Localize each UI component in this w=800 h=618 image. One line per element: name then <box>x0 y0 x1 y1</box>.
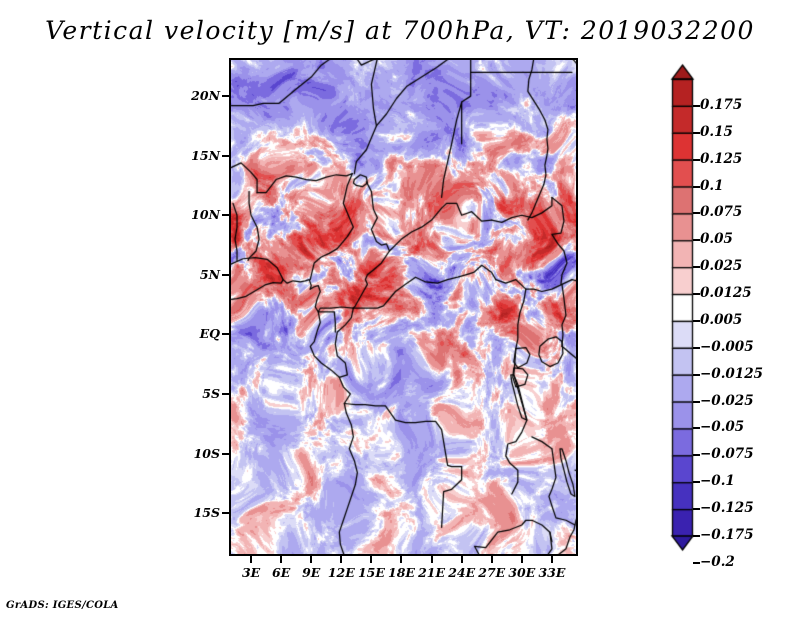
colorbar-tick-label: −0.025 <box>700 393 754 409</box>
y-axis-tick-mark <box>222 214 229 216</box>
colorbar-tick-label: 0.005 <box>700 312 742 328</box>
colorbar-tick-mark <box>693 454 700 456</box>
colorbar-tick-label: 0.15 <box>700 124 733 140</box>
colorbar-tick-label: 0.05 <box>700 231 733 247</box>
colorbar-tick-label: 0.125 <box>700 151 742 167</box>
y-axis-tick-label: 10S <box>194 446 220 461</box>
colorbar-tick-mark <box>693 266 700 268</box>
y-axis-tick-mark <box>222 274 229 276</box>
colorbar-tick-mark <box>693 427 700 429</box>
colorbar-tick-label: 0.0125 <box>700 285 752 301</box>
colorbar-tick-mark <box>693 535 700 537</box>
colorbar-tick-label: −0.2 <box>700 554 735 570</box>
grads-credit: GrADS: IGES/COLA <box>6 600 119 611</box>
x-axis-tick-mark <box>551 556 553 563</box>
colorbar-tick-label: 0.1 <box>700 178 724 194</box>
colorbar-tick-mark <box>693 132 700 134</box>
vertical-velocity-field <box>229 58 578 556</box>
y-axis-tick-label: 20N <box>191 88 220 103</box>
y-axis-tick-mark <box>222 453 229 455</box>
y-axis-tick-mark <box>222 512 229 514</box>
colorbar-tick-mark <box>693 159 700 161</box>
x-axis-tick-mark <box>521 556 523 563</box>
y-axis-tick-label: 15N <box>191 148 220 163</box>
colorbar-tick-label: −0.1 <box>700 473 735 489</box>
colorbar-tick-mark <box>693 481 700 483</box>
colorbar-tick-label: −0.005 <box>700 339 754 355</box>
colorbar-tick-mark <box>693 320 700 322</box>
y-axis-tick-label: EQ <box>200 326 220 341</box>
y-axis-tick-label: 5S <box>202 386 220 401</box>
x-axis-tick-mark <box>491 556 493 563</box>
x-axis-tick-mark <box>250 556 252 563</box>
colorbar-tick-mark <box>693 105 700 107</box>
colorbar-tick-label: 0.025 <box>700 258 742 274</box>
colorbar-tick-mark <box>693 374 700 376</box>
colorbar-tick-mark <box>693 401 700 403</box>
y-axis-tick-label: 15S <box>194 505 220 520</box>
y-axis-tick-label: 5N <box>200 267 220 282</box>
colorbar-tick-mark <box>693 508 700 510</box>
page-title: Vertical velocity [m/s] at 700hPa, VT: 2… <box>0 16 800 45</box>
colorbar-tick-mark <box>693 347 700 349</box>
colorbar-tick-label: 0.175 <box>700 97 742 113</box>
x-axis-tick-mark <box>310 556 312 563</box>
colorbar-tick-mark <box>693 562 700 564</box>
colorbar-tick-label: −0.0125 <box>700 366 763 382</box>
x-axis-tick-label: 33E <box>530 565 574 580</box>
x-axis-tick-mark <box>340 556 342 563</box>
y-axis-tick-label: 10N <box>191 207 220 222</box>
colorbar-tick-label: −0.075 <box>700 446 754 462</box>
x-axis-tick-mark <box>400 556 402 563</box>
colorbar-tick-mark <box>693 212 700 214</box>
x-axis-tick-mark <box>280 556 282 563</box>
colorbar-tick-label: −0.175 <box>700 527 754 543</box>
colorbar-tick-mark <box>693 186 700 188</box>
colorbar: 0.1750.150.1250.10.0750.050.0250.01250.0… <box>670 58 796 558</box>
map-plot-area <box>229 58 578 556</box>
y-axis-tick-mark <box>222 155 229 157</box>
colorbar-tick-mark <box>693 239 700 241</box>
y-axis-tick-mark <box>222 333 229 335</box>
colorbar-tick-label: −0.05 <box>700 419 744 435</box>
y-axis-tick-mark <box>222 95 229 97</box>
colorbar-tick-mark <box>693 293 700 295</box>
x-axis-tick-mark <box>461 556 463 563</box>
x-axis-tick-mark <box>431 556 433 563</box>
colorbar-tick-label: −0.125 <box>700 500 754 516</box>
y-axis-tick-mark <box>222 393 229 395</box>
x-axis-tick-mark <box>370 556 372 563</box>
colorbar-tick-label: 0.075 <box>700 204 742 220</box>
